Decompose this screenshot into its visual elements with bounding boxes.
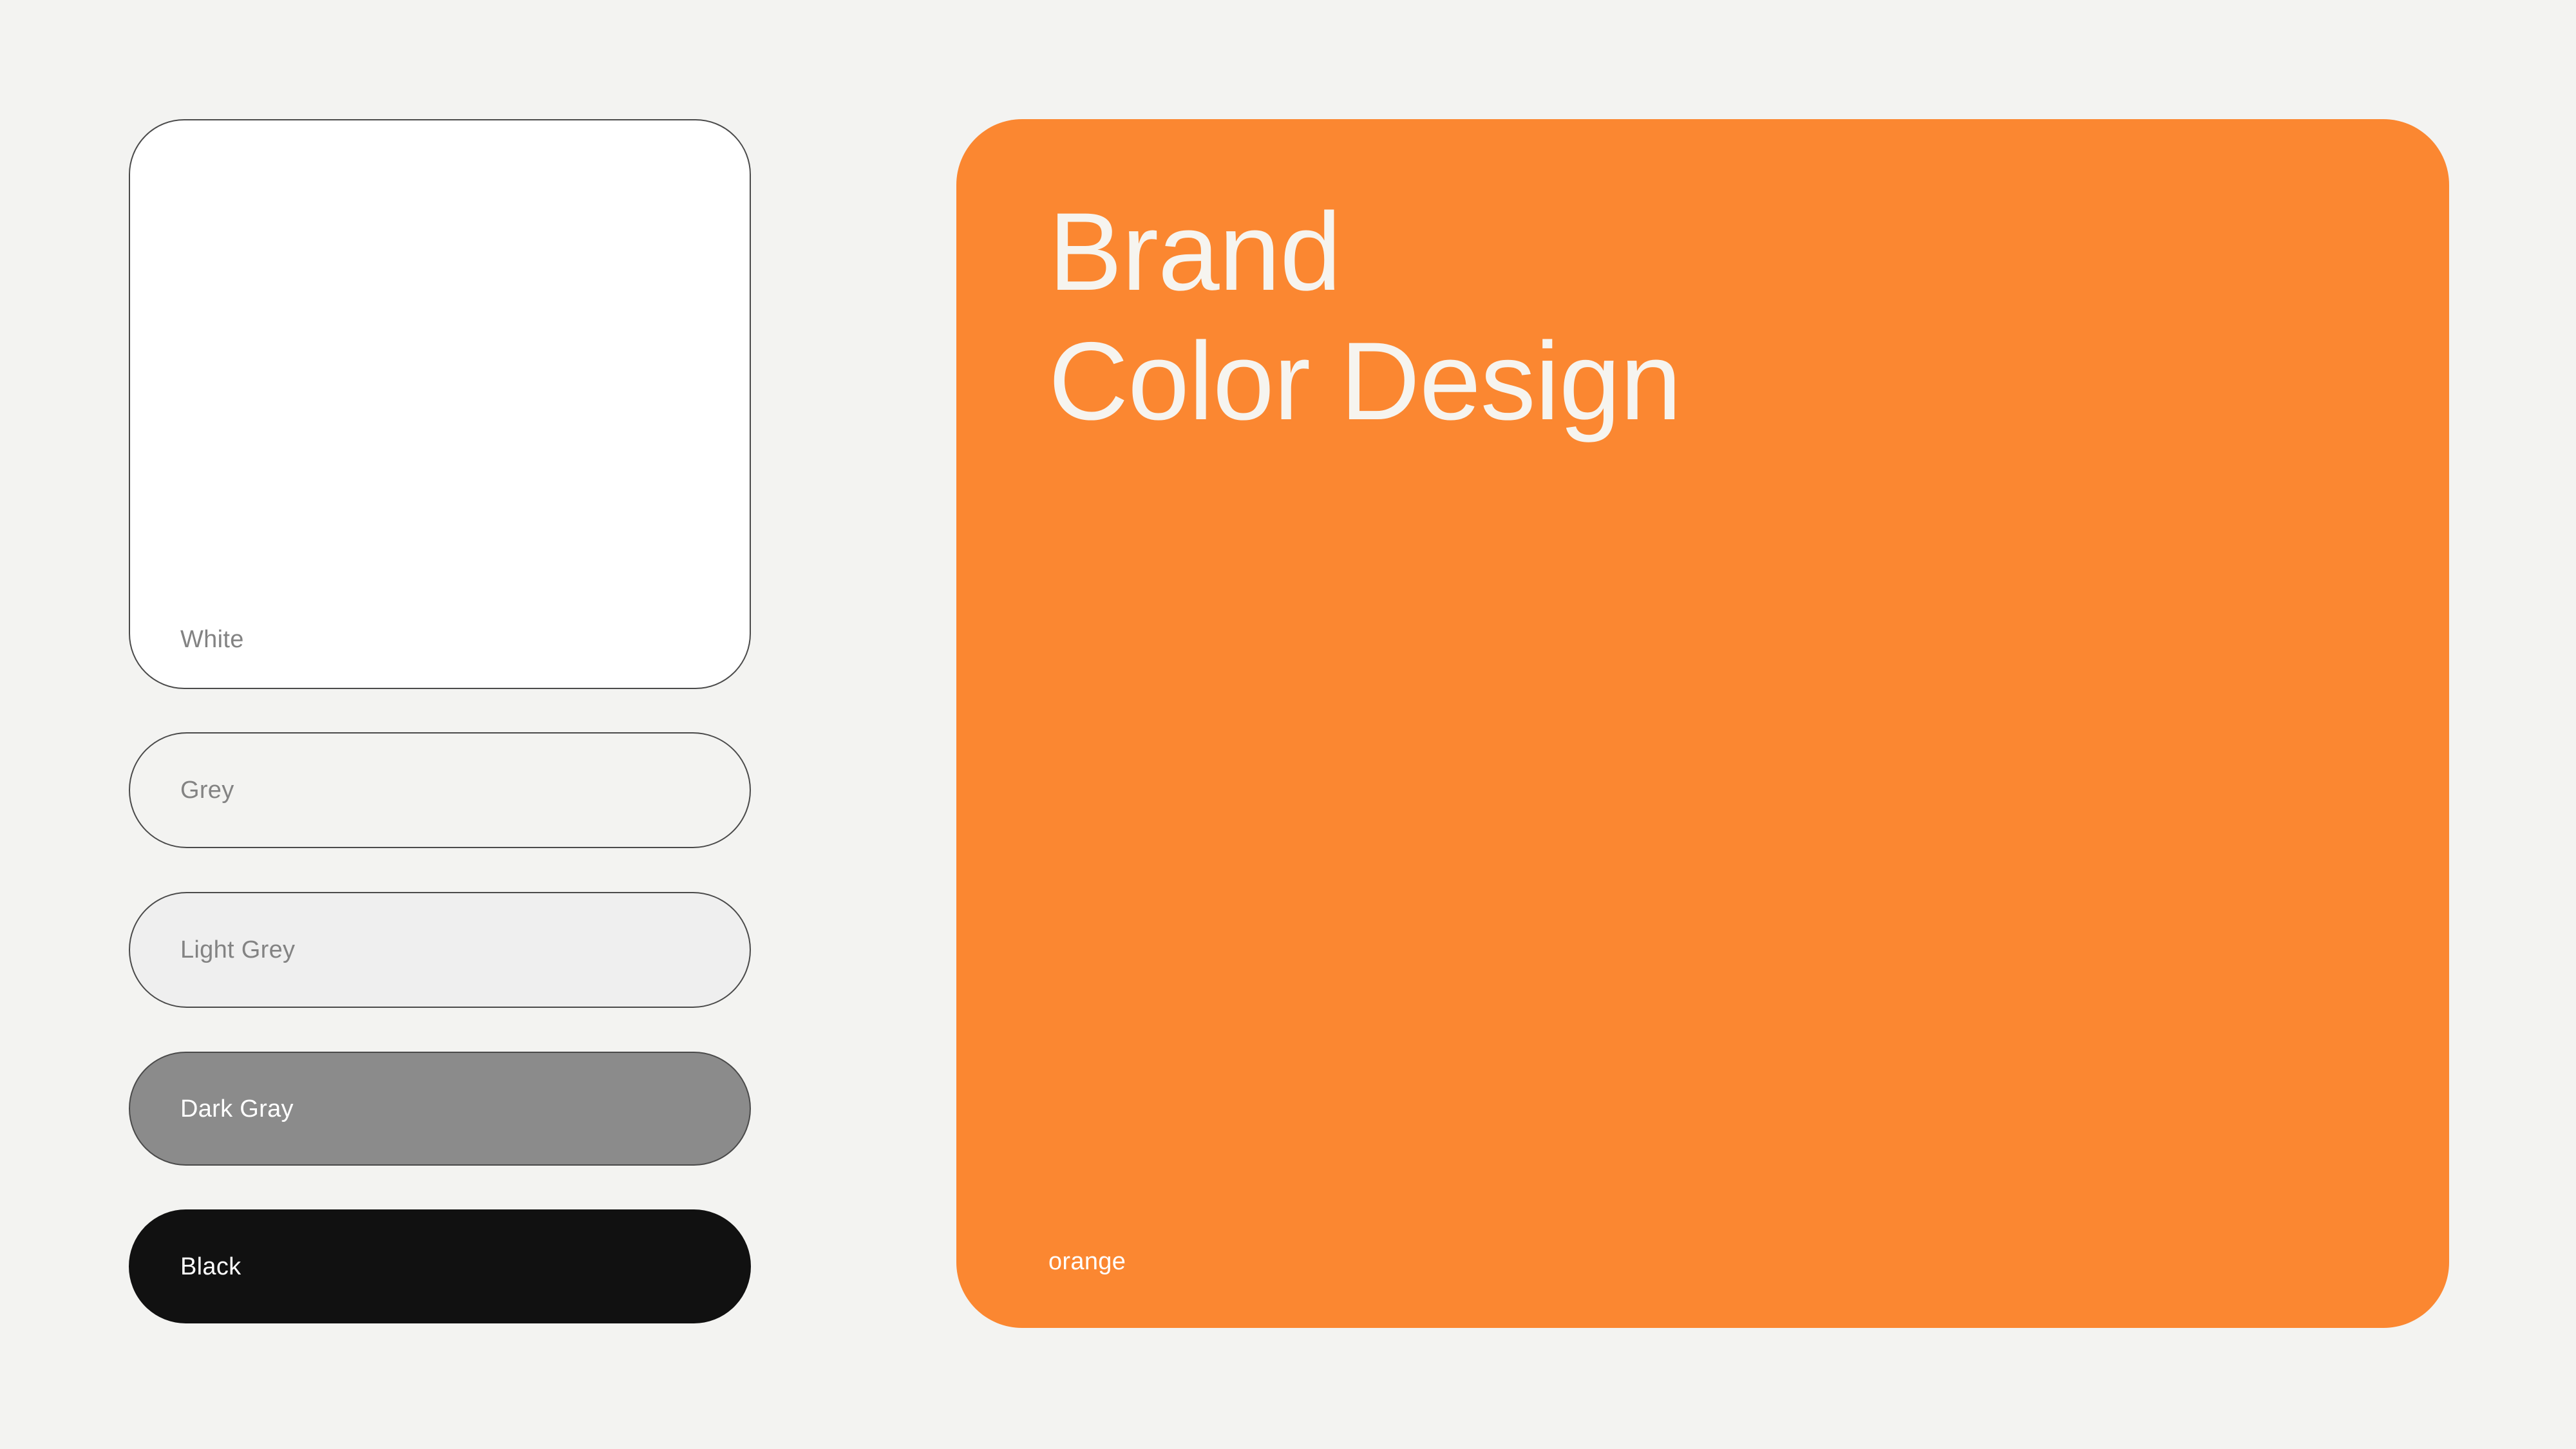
swatch-label-white: White: [180, 627, 244, 652]
swatch-label-black: Black: [180, 1255, 241, 1279]
swatch-white[interactable]: White: [129, 119, 751, 689]
swatch-label-dark-gray: Dark Gray: [180, 1097, 294, 1121]
neutral-swatch-list: White Grey Light Grey Dark Gray Black: [129, 119, 751, 1323]
swatch-label-orange: orange: [1048, 1249, 1126, 1274]
swatch-light-grey[interactable]: Light Grey: [129, 892, 751, 1008]
palette-board: White Grey Light Grey Dark Gray Black Br…: [0, 0, 2576, 1449]
page-title: Brand Color Design: [1048, 187, 1681, 446]
swatch-black[interactable]: Black: [129, 1209, 751, 1323]
swatch-orange-panel[interactable]: Brand Color Design orange: [956, 119, 2449, 1328]
swatch-dark-gray[interactable]: Dark Gray: [129, 1052, 751, 1166]
swatch-grey[interactable]: Grey: [129, 732, 751, 848]
swatch-label-light-grey: Light Grey: [180, 938, 295, 962]
swatch-label-grey: Grey: [180, 778, 234, 802]
